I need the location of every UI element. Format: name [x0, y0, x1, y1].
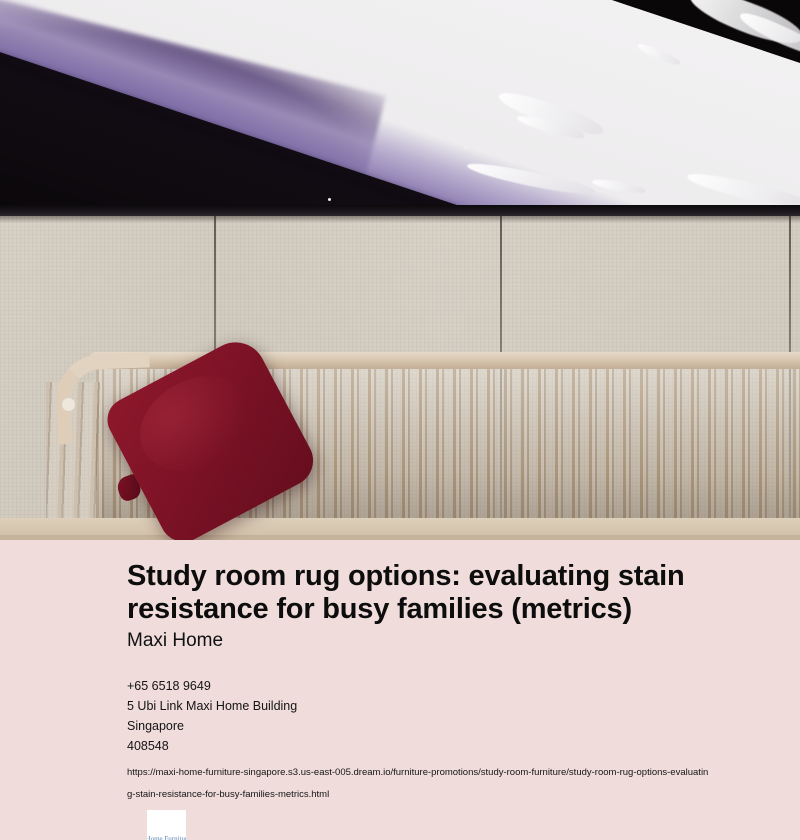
abstract-painting	[0, 0, 800, 212]
painting-paint-speck	[464, 146, 467, 149]
page-title: Study room rug options: evaluating stain…	[127, 560, 727, 626]
street-address: 5 Ubi Link Maxi Home Building	[127, 696, 727, 716]
hero-photo	[0, 0, 800, 540]
contact-details: +65 6518 9649 5 Ubi Link Maxi Home Build…	[127, 676, 727, 806]
postal-code: 408548	[127, 736, 727, 756]
painting-paint-speck	[474, 100, 478, 104]
logo-caption: Maxi Home Furniture Singapore	[147, 835, 186, 840]
page-root: Study room rug options: evaluating stain…	[0, 0, 800, 840]
painting-paint-speck	[328, 198, 331, 201]
phone-number[interactable]: +65 6518 9649	[127, 676, 727, 696]
brand-name: Maxi Home	[127, 630, 223, 652]
country: Singapore	[127, 716, 727, 736]
content-block: Study room rug options: evaluating stain…	[0, 540, 800, 840]
company-logo[interactable]: Maxi Home Furniture Singapore	[147, 810, 186, 840]
painting-paint-speck	[556, 158, 559, 161]
bench-rail-cap	[62, 398, 75, 411]
article-url[interactable]: https://maxi-home-furniture-singapore.s3…	[127, 762, 712, 806]
painting-frame-edge	[0, 205, 800, 216]
painting-drop-shadow	[0, 216, 800, 223]
